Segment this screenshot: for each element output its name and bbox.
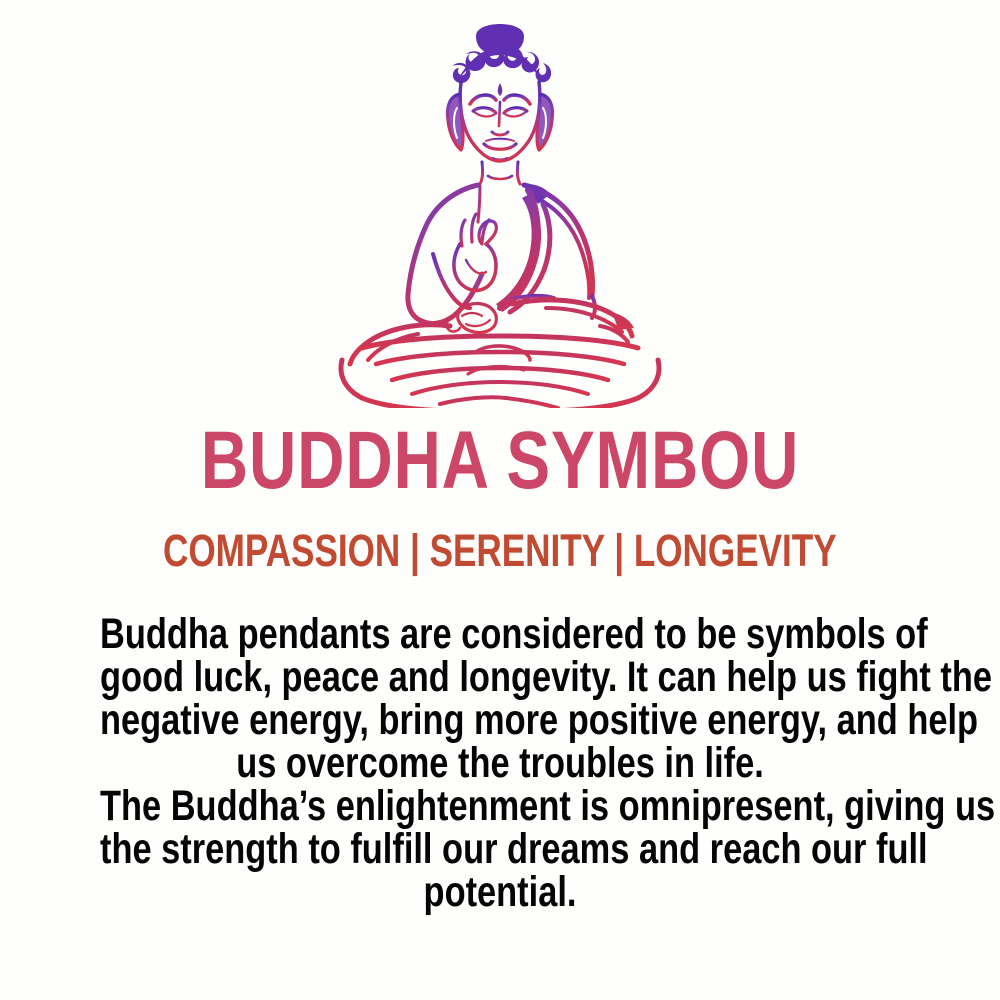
tagline: COMPASSION | SERENITY | LONGEVITY	[163, 528, 837, 573]
seated-buddha-illustration	[300, 8, 700, 408]
product-infographic-card: BUDDHA SYMBOU COMPASSION | SERENITY | LO…	[0, 0, 1000, 1000]
hair-curls-icon	[452, 46, 551, 83]
buddha-face-icon	[460, 82, 540, 184]
paragraph-one-line: Buddha pendants are considered to be sym…	[100, 613, 900, 656]
paragraph-one-line: good luck, peace and longevity. It can h…	[100, 656, 900, 699]
paragraph-two-line: potential.	[100, 871, 900, 914]
page-title: BUDDHA SYMBOU	[201, 420, 799, 502]
paragraph-one-line: negative energy, bring more positive ene…	[100, 699, 900, 742]
lotus-position-legs	[341, 300, 659, 408]
paragraph-two-line: The Buddha’s enlightenment is omnipresen…	[100, 785, 900, 828]
vitarka-mudra-hand-icon	[454, 214, 496, 290]
description-block: Buddha pendants are considered to be sym…	[0, 613, 1000, 914]
paragraph-one: Buddha pendants are considered to be sym…	[100, 613, 900, 785]
paragraph-two: The Buddha’s enlightenment is omnipresen…	[100, 785, 900, 914]
paragraph-one-line: us overcome the troubles in life.	[100, 742, 900, 785]
paragraph-two-line: the strength to fulfill our dreams and r…	[100, 828, 900, 871]
